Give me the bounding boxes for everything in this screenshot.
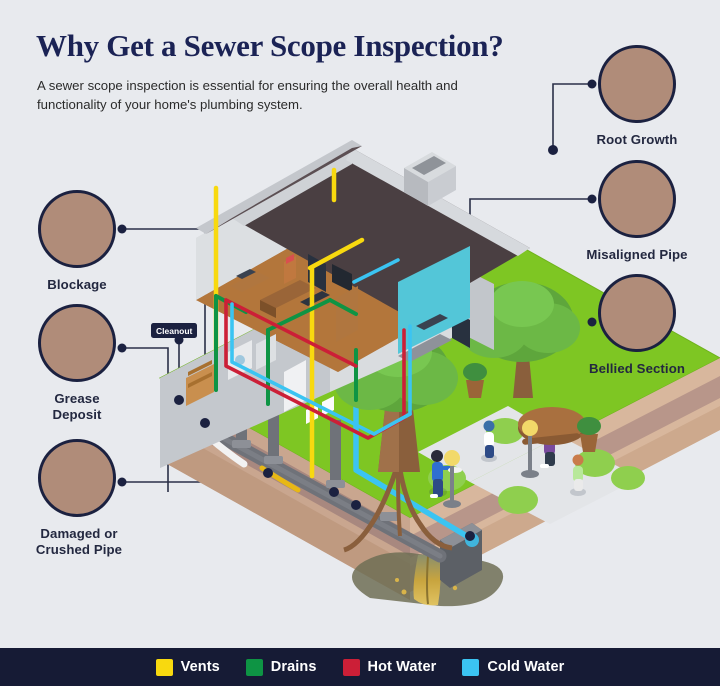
legend-bar: Vents Drains Hot Water Cold Water [0,648,720,686]
hot-water-swatch-icon [343,659,360,676]
legend-label: Cold Water [487,659,564,675]
cleanout-label: Cleanout [151,323,197,338]
callout-label: Blockage [17,277,137,293]
callout-label: Damaged or Crushed Pipe [17,526,141,558]
legend-item-hot-water[interactable]: Hot Water [343,659,437,676]
legend-item-vents[interactable]: Vents [156,659,220,676]
blockage-icon [38,190,116,268]
callout-label: Grease Deposit [29,391,125,423]
callout-grease-deposit[interactable]: Grease Deposit [17,304,137,423]
bellied-section-icon [598,274,676,352]
callout-label: Root Growth [577,132,697,148]
callout-bellied-section[interactable]: Bellied Section [577,274,697,377]
callout-root-growth[interactable]: Root Growth [577,45,697,148]
callout-misaligned-pipe[interactable]: Misaligned Pipe [577,160,697,263]
damaged-crushed-pipe-icon [38,439,116,517]
grease-deposit-icon [38,304,116,382]
legend-label: Hot Water [368,659,437,675]
callout-blockage[interactable]: Blockage [17,190,137,293]
legend-item-cold-water[interactable]: Cold Water [462,659,564,676]
drains-swatch-icon [246,659,263,676]
legend-item-drains[interactable]: Drains [246,659,317,676]
cold-water-swatch-icon [462,659,479,676]
callout-label: Misaligned Pipe [562,247,712,263]
callout-label: Bellied Section [562,361,712,377]
legend-label: Drains [271,659,317,675]
vents-swatch-icon [156,659,173,676]
infographic-canvas: Why Get a Sewer Scope Inspection? A sewe… [0,0,720,686]
legend-label: Vents [181,659,220,675]
root-growth-icon [598,45,676,123]
callout-damaged-crushed-pipe[interactable]: Damaged or Crushed Pipe [17,439,137,558]
misaligned-pipe-icon [598,160,676,238]
